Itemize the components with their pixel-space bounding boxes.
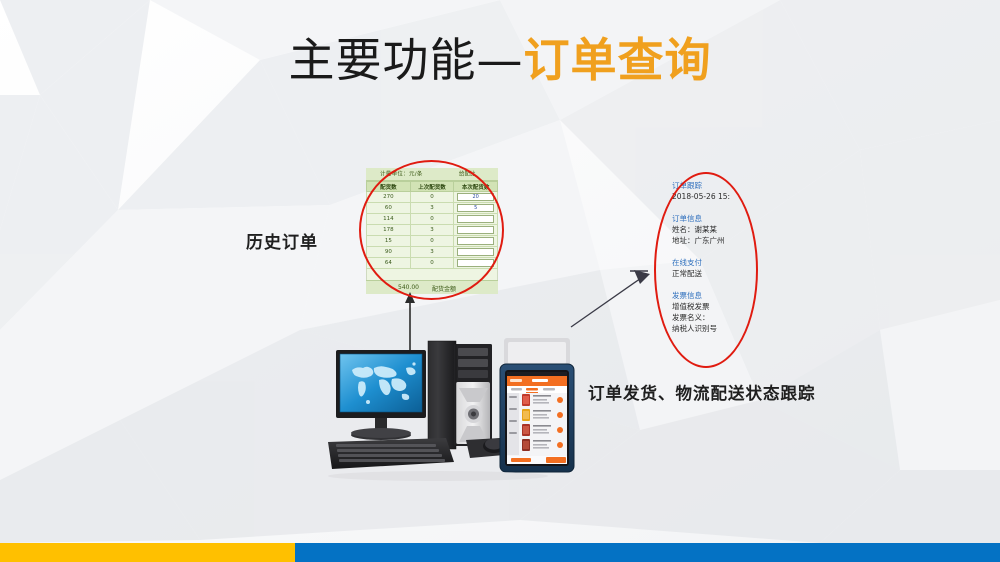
hardware-illustration bbox=[318, 330, 586, 482]
label-history-order: 历史订单 bbox=[246, 228, 318, 253]
desktop-monitor-world-map bbox=[336, 350, 426, 440]
arrow-diagonal-icon bbox=[568, 262, 658, 330]
keyboard bbox=[328, 438, 454, 469]
mouse bbox=[466, 438, 505, 458]
page-title-accent: 订单查询 bbox=[524, 33, 712, 87]
page-title-main: 主要功能— bbox=[289, 33, 524, 87]
footer-bar-left bbox=[0, 543, 295, 562]
page-title: 主要功能—订单查询 bbox=[0, 24, 1000, 90]
pos-terminal bbox=[500, 338, 574, 472]
footer-bar-right bbox=[295, 543, 1000, 562]
history-order-annotation-circle bbox=[359, 160, 504, 300]
order-tracking-annotation-circle bbox=[654, 172, 758, 368]
label-order-delivery-tracking: 订单发货、物流配送状态跟踪 bbox=[588, 380, 816, 404]
desktop-tower-pc bbox=[428, 341, 492, 449]
